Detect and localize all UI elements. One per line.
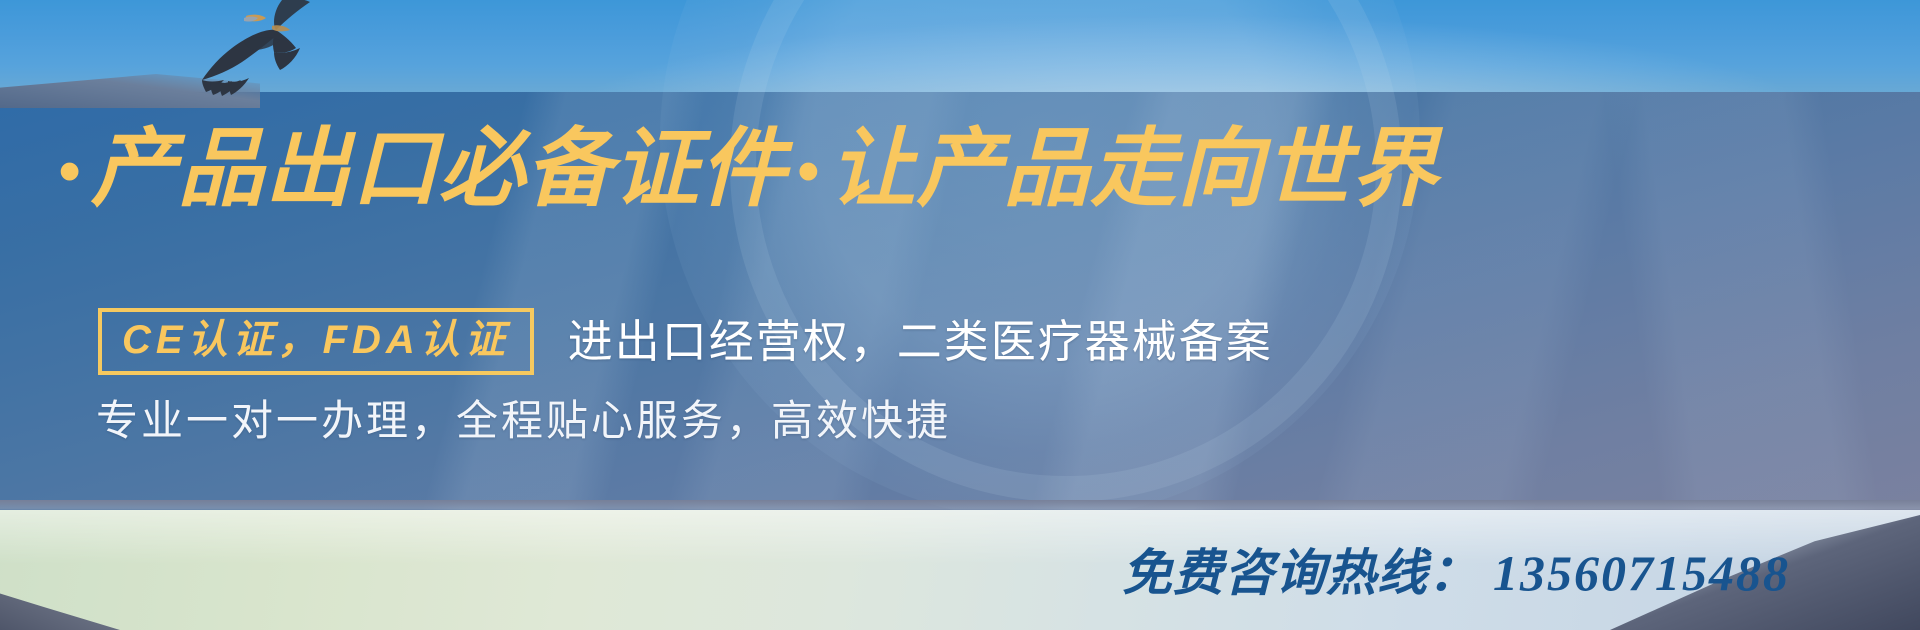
promo-banner: •产品出口必备证件•让产品走向世界 CE认证，FDA认证 进出口经营权，二类医疗… bbox=[0, 0, 1920, 630]
headline-bullet-left: • bbox=[48, 137, 91, 206]
headline-bullet-middle: • bbox=[787, 137, 830, 206]
service-promise-text: 专业一对一办理，全程贴心服务，高效快捷 bbox=[96, 400, 951, 442]
hotline[interactable]: 免费咨询热线：13560715488 bbox=[1122, 548, 1790, 598]
eagle-icon bbox=[186, 0, 332, 104]
certification-tag-box: CE认证，FDA认证 bbox=[98, 308, 534, 375]
hotline-label: 免费咨询热线： bbox=[1122, 545, 1479, 601]
headline-part-2: 让产品走向世界 bbox=[829, 121, 1438, 217]
services-text: 进出口经营权，二类医疗器械备案 bbox=[568, 319, 1273, 364]
headline-part-1: 产品出口必备证件 bbox=[91, 121, 787, 217]
page-title: •产品出口必备证件•让产品走向世界 bbox=[48, 126, 1888, 212]
hotline-number[interactable]: 13560715488 bbox=[1479, 545, 1790, 601]
subheading-row: CE认证，FDA认证 进出口经营权，二类医疗器械备案 bbox=[98, 308, 1273, 375]
